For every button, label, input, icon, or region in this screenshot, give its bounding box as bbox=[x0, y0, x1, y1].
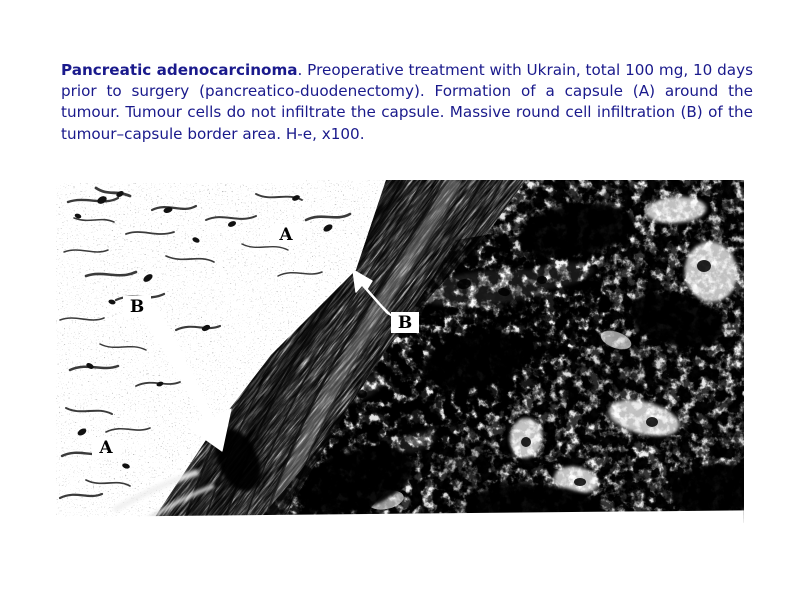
histology-micrograph-image bbox=[56, 180, 744, 523]
micrograph-figure bbox=[56, 180, 744, 523]
figure-label-b-infiltration-right: B bbox=[391, 312, 419, 333]
slide-canvas: Pancreatic adenocarcinoma. Preoperative … bbox=[0, 0, 800, 600]
figure-label-a-capsule-top: A bbox=[272, 224, 300, 245]
figure-caption: Pancreatic adenocarcinoma. Preoperative … bbox=[61, 60, 753, 145]
figure-label-a-capsule-bottom: A bbox=[92, 437, 120, 458]
figure-label-b-infiltration-left: B bbox=[123, 296, 151, 317]
caption-lead: Pancreatic adenocarcinoma bbox=[61, 61, 298, 79]
